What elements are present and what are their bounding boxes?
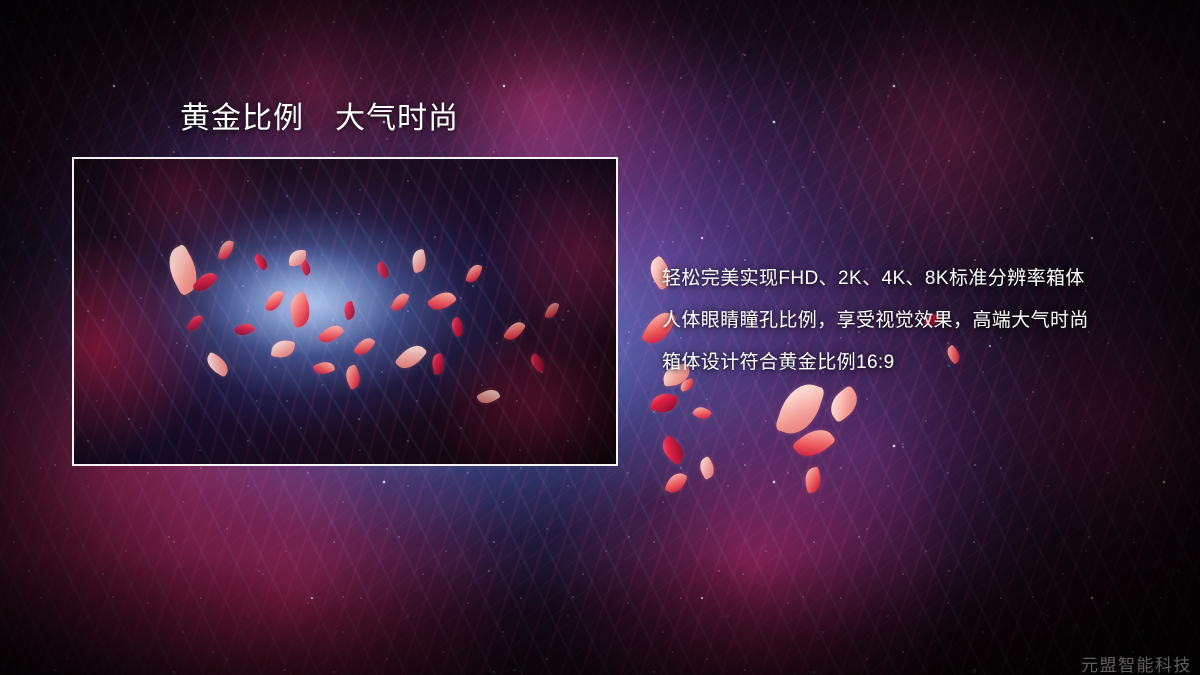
feature-line-3: 箱体设计符合黄金比例16:9	[662, 342, 1162, 384]
feature-description: 轻松完美实现FHD、2K、4K、8K标准分辨率箱体 人体眼睛瞳孔比例，享受视觉效…	[662, 258, 1162, 384]
feature-line-1: 轻松完美实现FHD、2K、4K、8K标准分辨率箱体	[662, 258, 1162, 300]
frame-vignette	[74, 159, 616, 464]
slide-canvas: 黄金比例 大气时尚 轻松完美实现FHD、2K、4K、8K标准分辨率箱体 人体眼睛…	[0, 0, 1200, 675]
watermark-label: 元盟智能科技	[1081, 651, 1192, 675]
product-image-frame[interactable]	[72, 157, 618, 466]
page-title: 黄金比例 大气时尚	[180, 101, 459, 136]
feature-line-2: 人体眼睛瞳孔比例，享受视觉效果，高端大气时尚	[662, 300, 1162, 342]
